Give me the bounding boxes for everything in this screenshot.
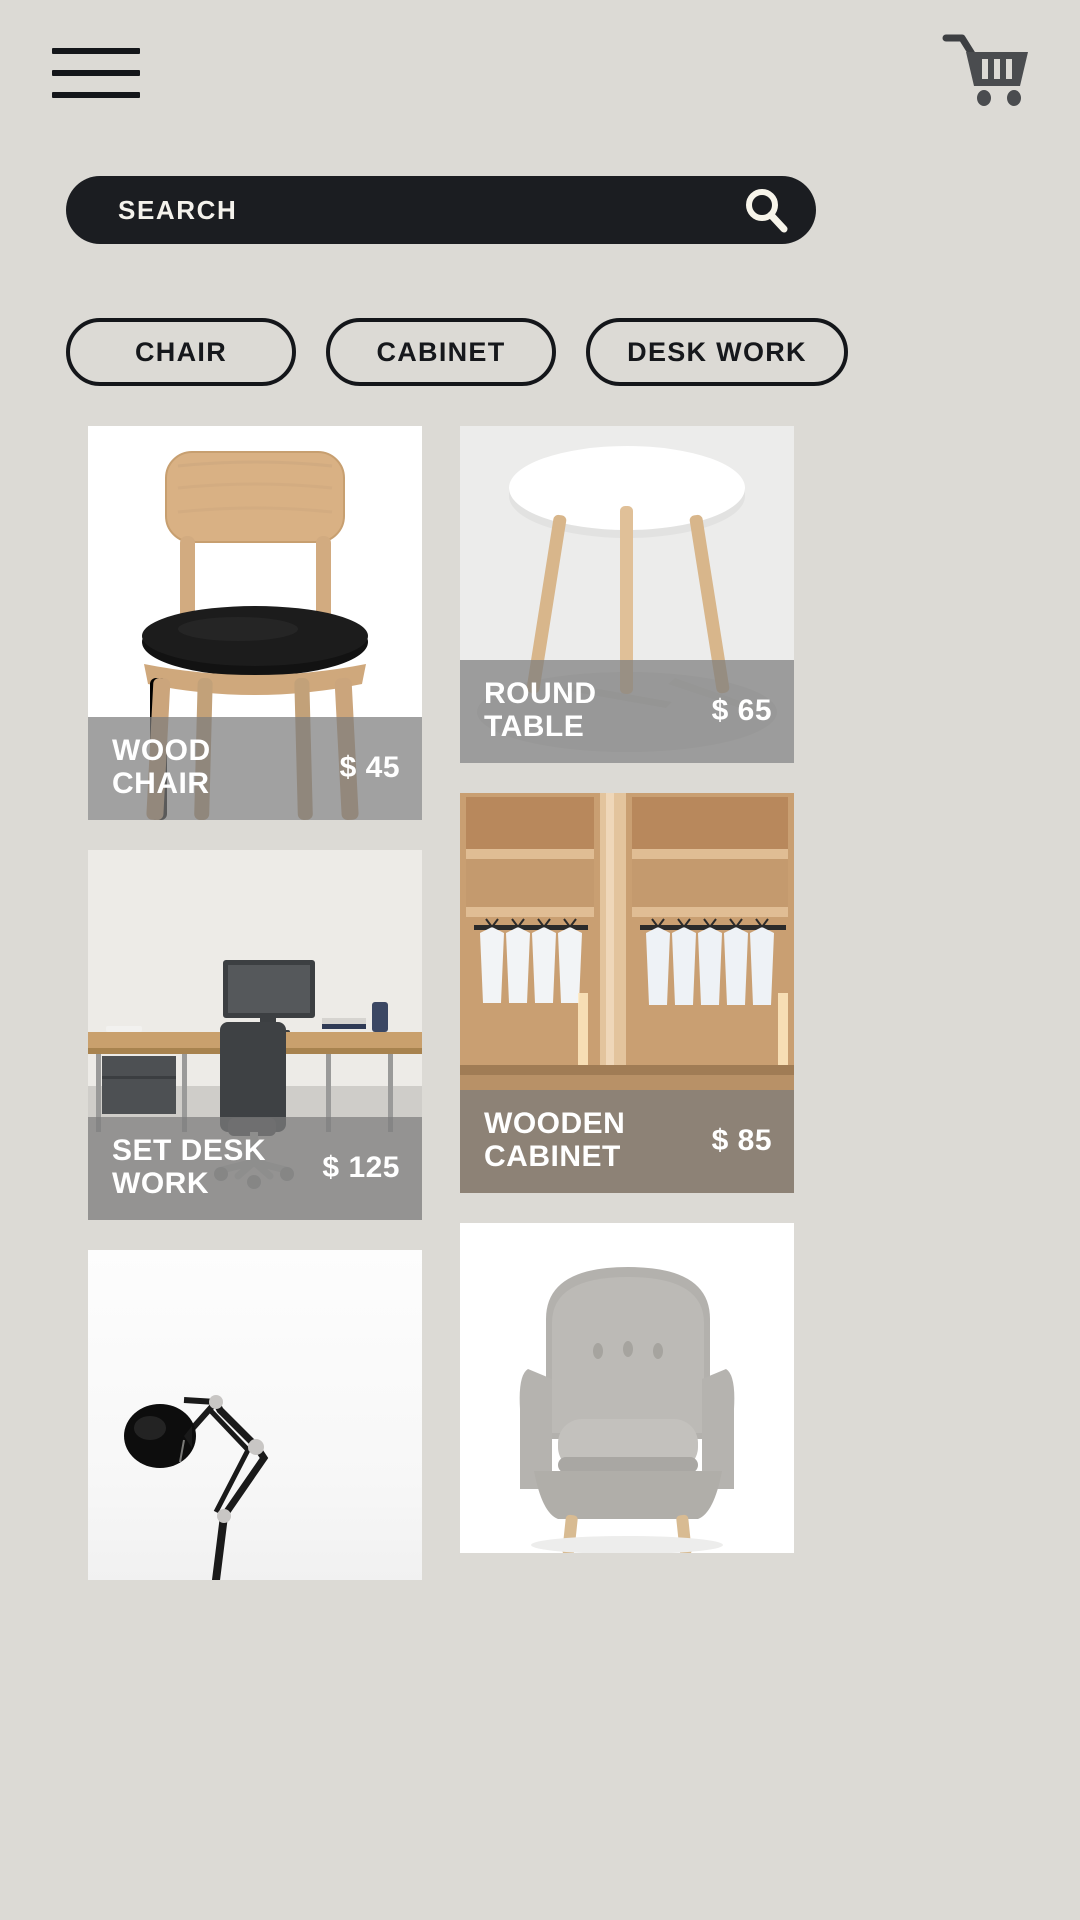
product-name-line1: WOODEN	[484, 1108, 625, 1140]
product-card-round-table[interactable]: ROUND TABLE $ 65	[460, 426, 794, 763]
hamburger-menu-icon[interactable]	[52, 48, 140, 98]
product-card-wood-chair[interactable]: WOOD CHAIR $ 45	[88, 426, 422, 820]
product-price: $ 85	[712, 1124, 772, 1158]
product-price: $ 125	[322, 1151, 400, 1185]
top-bar	[0, 0, 1080, 150]
product-column-left: WOOD CHAIR $ 45	[88, 426, 422, 1610]
category-filter-list: CHAIR CABINET DESK WORK	[66, 318, 1016, 386]
product-image-grey-armchair	[460, 1223, 794, 1553]
product-image-desk-lamp	[88, 1250, 422, 1580]
product-name-line1: SET DESK	[112, 1135, 266, 1167]
product-name-line2: WORK	[112, 1168, 266, 1200]
product-name-line2: CABINET	[484, 1141, 625, 1173]
product-name: ROUND TABLE	[484, 678, 597, 743]
hamburger-bar	[52, 92, 140, 98]
product-label-band: ROUND TABLE $ 65	[460, 660, 794, 763]
product-card-wooden-cabinet[interactable]: WOODEN CABINET $ 85	[460, 793, 794, 1193]
hamburger-bar	[52, 70, 140, 76]
app-screen: SEARCH CHAIR CABINET DESK WORK	[0, 0, 1080, 1920]
product-price: $ 45	[340, 751, 400, 785]
search-input-value: SEARCH	[118, 195, 237, 226]
shopping-cart-icon[interactable]	[942, 34, 1034, 106]
product-name-line1: ROUND	[484, 678, 597, 710]
category-pill-chair[interactable]: CHAIR	[66, 318, 296, 386]
product-name-line2: TABLE	[484, 711, 597, 743]
hamburger-bar	[52, 48, 140, 54]
product-name-line2: CHAIR	[112, 768, 211, 800]
search-input[interactable]: SEARCH	[66, 176, 816, 244]
category-pill-desk-work[interactable]: DESK WORK	[586, 318, 848, 386]
product-grid: WOOD CHAIR $ 45	[0, 426, 1080, 1920]
product-name-line1: WOOD	[112, 735, 211, 767]
category-pill-label: DESK WORK	[627, 337, 807, 368]
category-pill-label: CHAIR	[135, 337, 227, 368]
product-name: WOODEN CABINET	[484, 1108, 625, 1173]
product-card-grey-armchair[interactable]	[460, 1223, 794, 1553]
product-label-band: SET DESK WORK $ 125	[88, 1117, 422, 1220]
category-pill-cabinet[interactable]: CABINET	[326, 318, 556, 386]
product-label-band: WOODEN CABINET $ 85	[460, 1090, 794, 1193]
product-card-desk-lamp[interactable]	[88, 1250, 422, 1580]
search-icon[interactable]	[742, 186, 790, 234]
product-label-band: WOOD CHAIR $ 45	[88, 717, 422, 820]
product-price: $ 65	[712, 694, 772, 728]
product-name: WOOD CHAIR	[112, 735, 211, 800]
product-name: SET DESK WORK	[112, 1135, 266, 1200]
product-card-set-desk-work[interactable]: SET DESK WORK $ 125	[88, 850, 422, 1220]
product-column-right: ROUND TABLE $ 65	[460, 426, 794, 1583]
category-pill-label: CABINET	[376, 337, 505, 368]
